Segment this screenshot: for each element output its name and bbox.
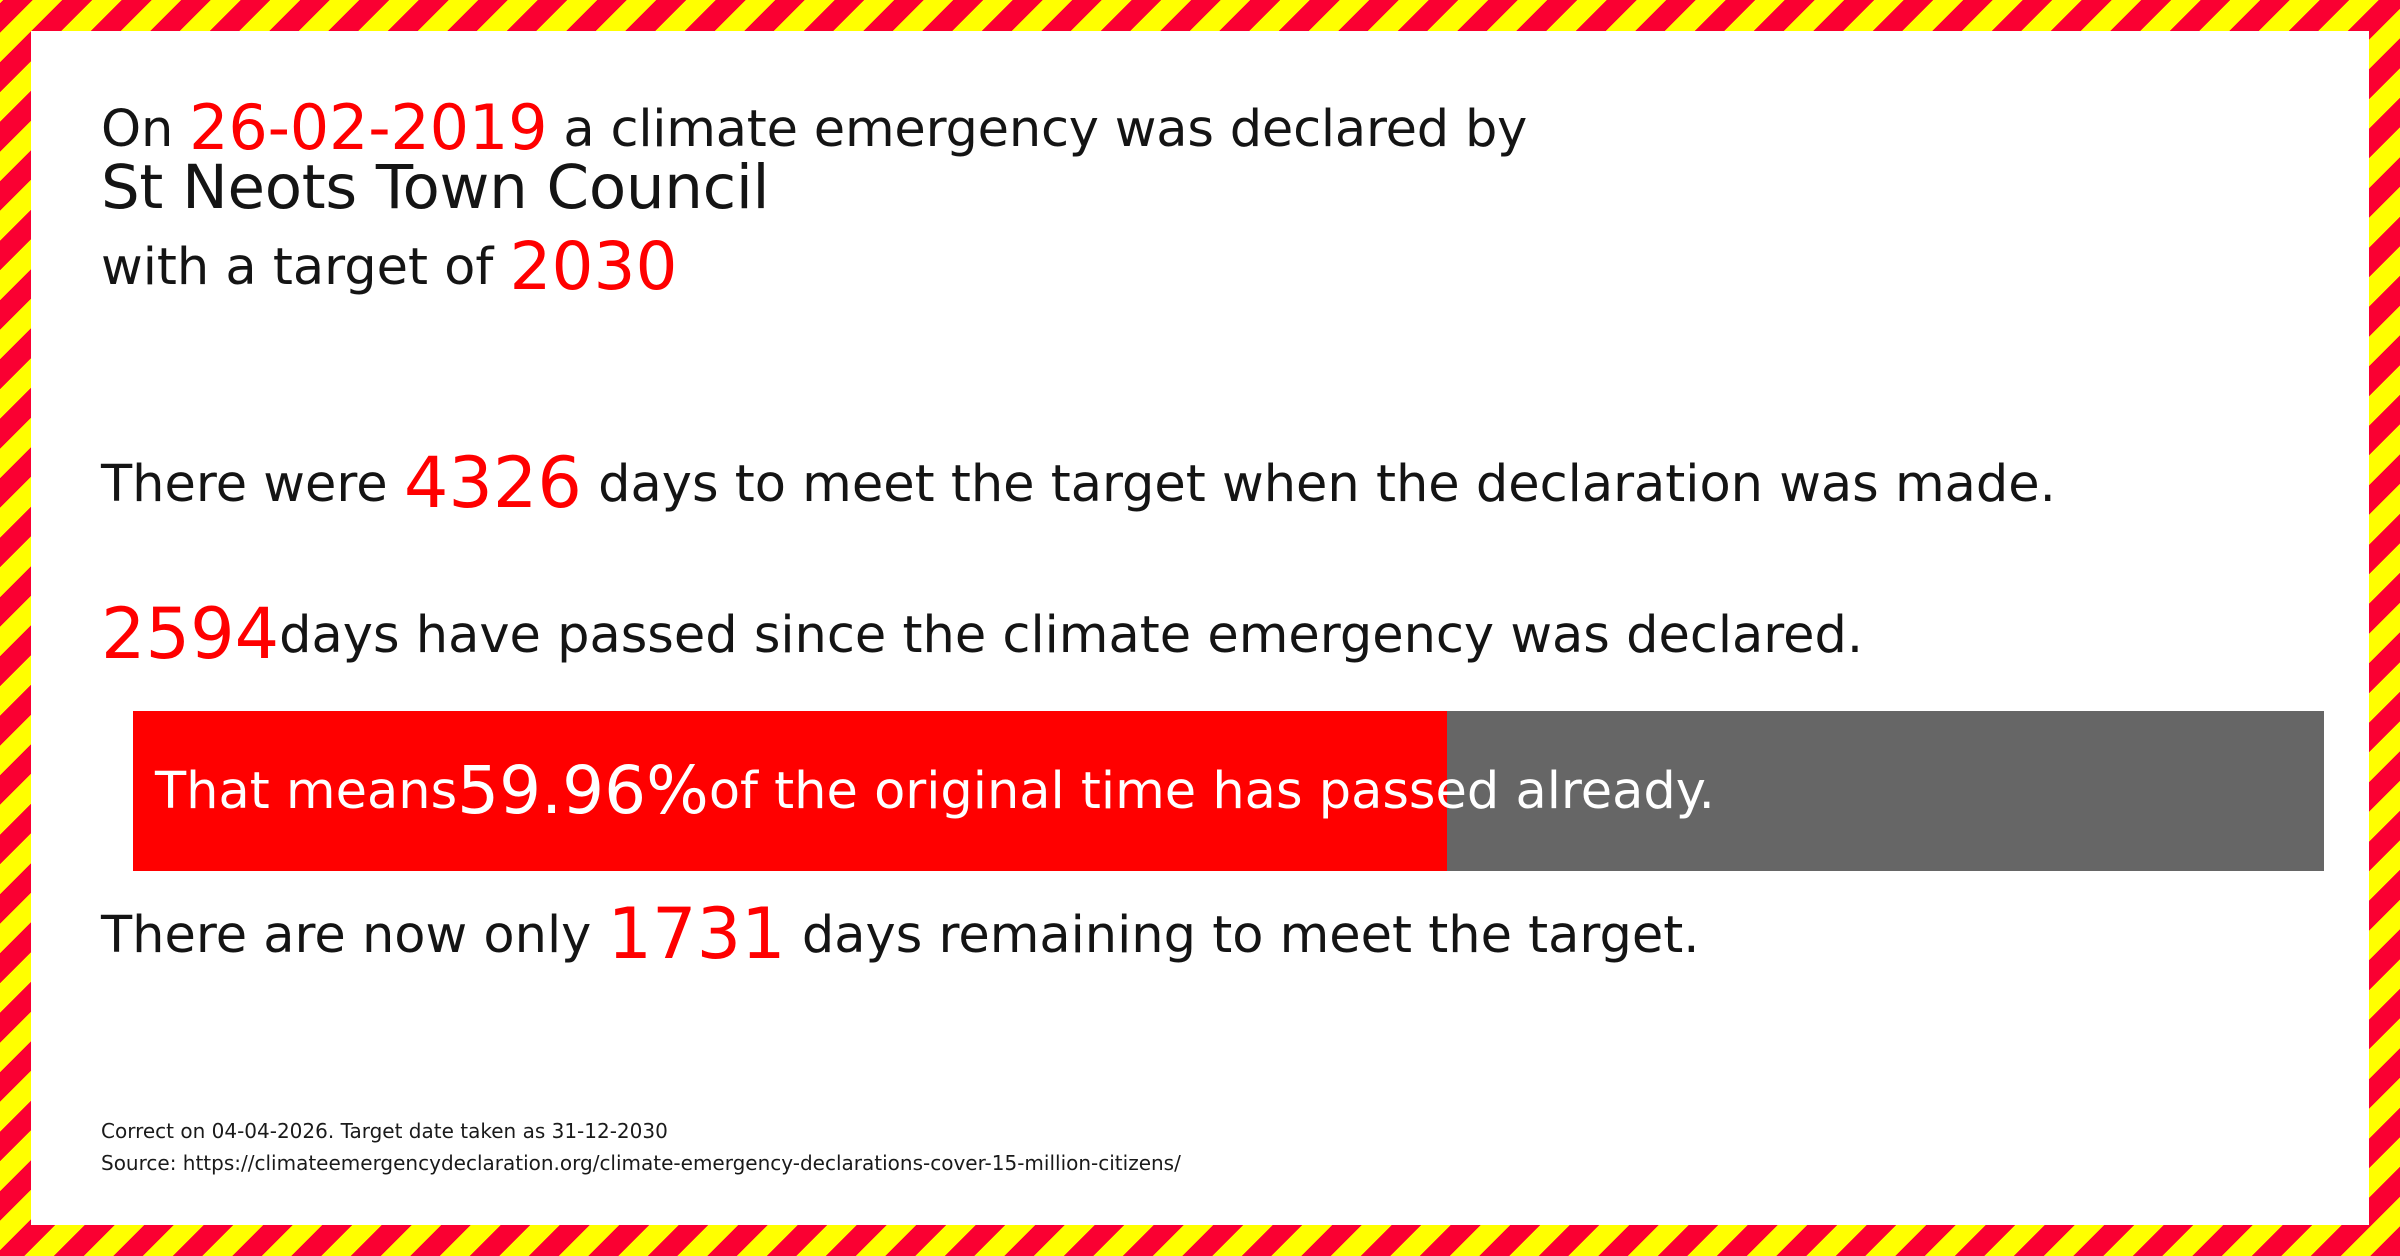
remaining-days-statement: There are now only 1731 days remaining t… bbox=[101, 899, 1699, 969]
footnote-source: Source: https://climateemergencydeclarat… bbox=[101, 1153, 1181, 1174]
original-days-suffix-text: days to meet the target when the declara… bbox=[582, 455, 2056, 514]
progress-percent-value: 59.96% bbox=[457, 758, 709, 824]
declaration-prefix-text: On bbox=[101, 100, 189, 159]
passed-days-value: 2594 bbox=[101, 593, 279, 675]
original-days-prefix-text: There were bbox=[101, 455, 404, 514]
target-prefix-text: with a target of bbox=[101, 238, 510, 297]
remaining-days-suffix-text: days remaining to meet the target. bbox=[786, 906, 1700, 965]
council-name: St Neots Town Council bbox=[101, 157, 769, 218]
time-progress-label: That means 59.96% of the original time h… bbox=[133, 711, 2324, 871]
poster-card: On 26-02-2019 a climate emergency was de… bbox=[31, 31, 2369, 1225]
passed-days-suffix-text: days have passed since the climate emerg… bbox=[279, 606, 1863, 665]
declaration-suffix-text: a climate emergency was declared by bbox=[547, 100, 1527, 159]
footnote-correct-on: Correct on 04-04-2026. Target date taken… bbox=[101, 1121, 668, 1142]
time-progress-bar: That means 59.96% of the original time h… bbox=[133, 711, 2324, 871]
remaining-days-value: 1731 bbox=[608, 893, 786, 975]
target-year: 2030 bbox=[510, 228, 678, 305]
remaining-days-prefix-text: There are now only bbox=[101, 906, 608, 965]
climate-emergency-poster: On 26-02-2019 a climate emergency was de… bbox=[0, 0, 2400, 1256]
declaration-statement: On 26-02-2019 a climate emergency was de… bbox=[101, 97, 1527, 159]
progress-prefix-text: That means bbox=[155, 766, 457, 817]
target-statement: with a target of 2030 bbox=[101, 234, 678, 300]
original-days-statement: There were 4326 days to meet the target … bbox=[101, 448, 2056, 518]
original-days-value: 4326 bbox=[404, 442, 582, 524]
passed-days-statement: 2594days have passed since the climate e… bbox=[101, 599, 1863, 669]
poster-content: On 26-02-2019 a climate emergency was de… bbox=[101, 31, 2329, 1225]
progress-suffix-text: of the original time has passed already. bbox=[709, 766, 1715, 817]
